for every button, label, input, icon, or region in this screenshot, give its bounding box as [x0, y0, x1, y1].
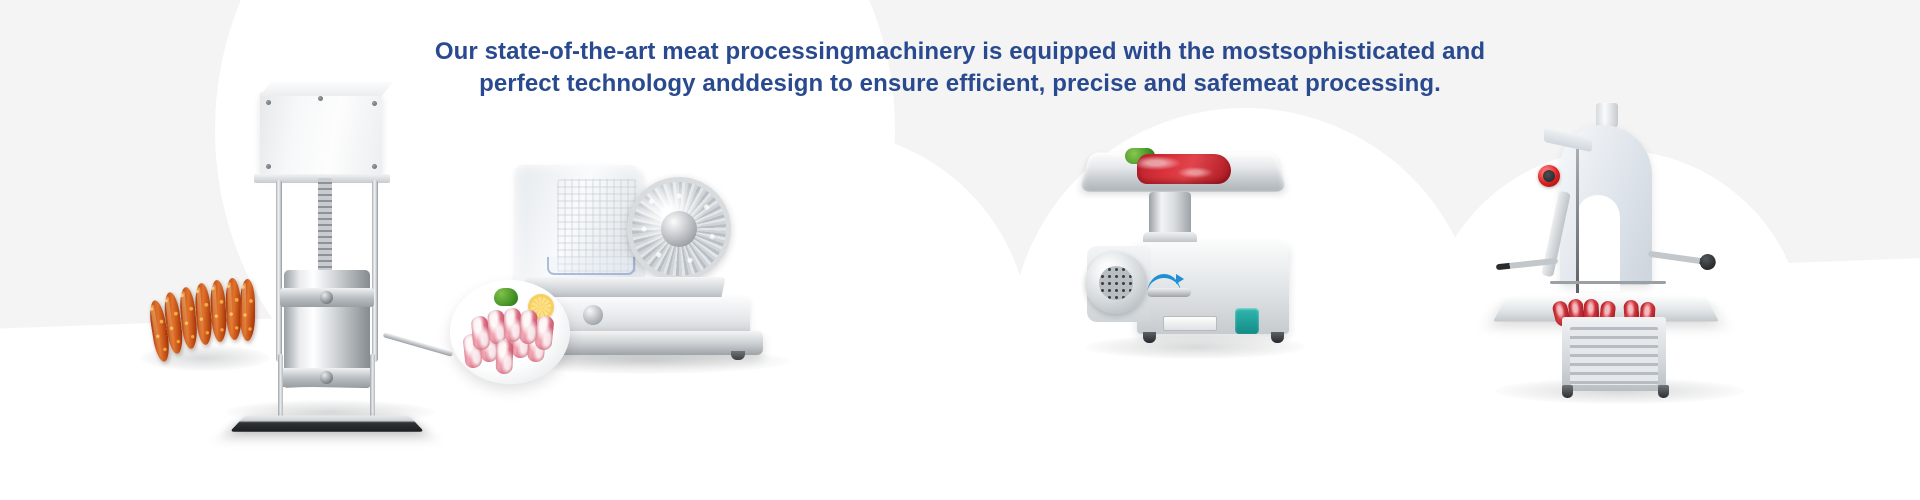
- stuffer-motor-housing: [260, 92, 382, 176]
- slicer-thickness-knob: [583, 305, 603, 325]
- slicer-foot-right: [731, 351, 745, 360]
- bonesaw-band-blade: [1576, 149, 1579, 293]
- pork-plate-parsley: [494, 288, 518, 306]
- grinder-locking-lever: [1147, 288, 1191, 297]
- bonesaw-tension-knob[interactable]: [1538, 165, 1560, 187]
- grinder-spec-label: [1163, 316, 1217, 331]
- grinder-foot-left: [1143, 332, 1156, 343]
- stuffer-knob-lower: [320, 371, 333, 384]
- stuffer-rod-left: [276, 180, 282, 362]
- stuffer-rod-right: [372, 180, 378, 362]
- headline-line-2: technology anddesign to ensure efficient…: [567, 70, 1441, 97]
- stuffer-leg-right: [370, 354, 375, 418]
- bonesaw-caster-left: [1562, 385, 1573, 398]
- bonesaw-guide-bar: [1550, 281, 1666, 284]
- bonesaw-caster-right: [1658, 385, 1669, 398]
- bonesaw-vent-louvres: [1570, 327, 1658, 385]
- product-sausage-stuffer: [232, 92, 422, 377]
- bonesaw-handle-right[interactable]: [1648, 251, 1710, 266]
- product-bone-saw: [1500, 103, 1740, 393]
- grinder-foot-right: [1271, 332, 1284, 343]
- stuffer-base-plate: [230, 416, 425, 432]
- grinder-mincing-plate: [1099, 266, 1133, 300]
- stuffer-outlet-arm: [383, 332, 454, 357]
- slicer-guard-lip: [547, 257, 635, 275]
- product-meat-grinder: [1085, 148, 1295, 363]
- slicer-blade-hub: [661, 211, 697, 247]
- hero-banner: Our state-of-the-art meat processingmach…: [0, 0, 1920, 500]
- product-sliced-pork-plate: [450, 280, 570, 384]
- bonesaw-arch-opening: [1576, 195, 1620, 291]
- stuffer-leg-left: [278, 354, 283, 418]
- grinder-tray-raw-meat: [1137, 154, 1231, 184]
- grinder-power-switch[interactable]: [1235, 308, 1259, 334]
- page-title: Our state-of-the-art meat processingmach…: [410, 36, 1510, 100]
- stuffer-knob-upper: [320, 291, 333, 304]
